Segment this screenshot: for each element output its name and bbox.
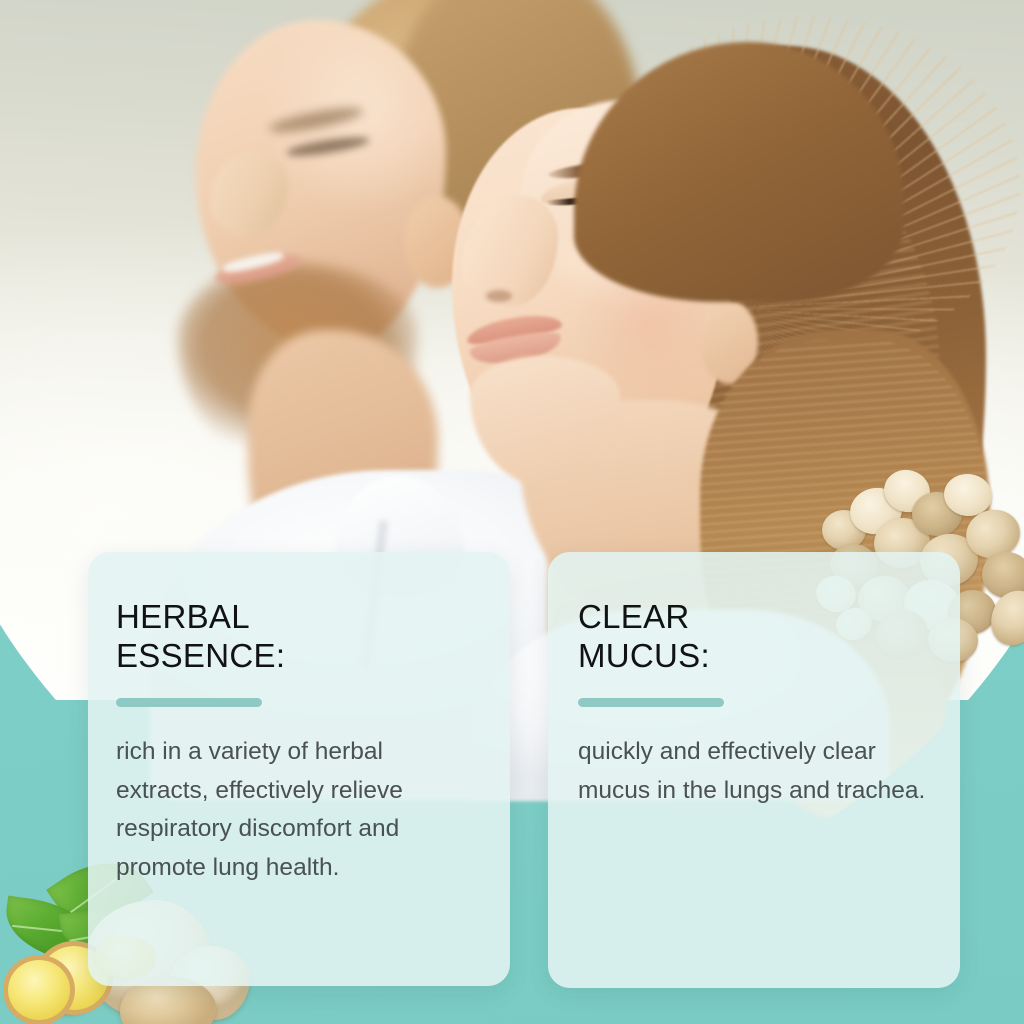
card-herbal-essence-content: HERBAL ESSENCE: rich in a variety of her…	[88, 552, 510, 888]
card-herbal-essence-heading: HERBAL ESSENCE:	[116, 598, 480, 676]
card-clear-mucus-content: CLEAR MUCUS: quickly and effectively cle…	[548, 552, 960, 810]
woman-nostril	[486, 290, 512, 302]
card-herbal-essence-body: rich in a variety of herbal extracts, ef…	[116, 733, 480, 888]
card-clear-mucus[interactable]: CLEAR MUCUS: quickly and effectively cle…	[548, 552, 960, 988]
card-herbal-essence-divider	[116, 698, 262, 707]
card-clear-mucus-heading: CLEAR MUCUS:	[578, 598, 930, 676]
ginger-cut-slice-b	[8, 960, 70, 1020]
card-clear-mucus-divider	[578, 698, 724, 707]
card-herbal-essence[interactable]: HERBAL ESSENCE: rich in a variety of her…	[88, 552, 510, 986]
card-clear-mucus-body: quickly and effectively clear mucus in t…	[578, 733, 930, 810]
poster-canvas: HERBAL ESSENCE: rich in a variety of her…	[0, 0, 1024, 1024]
